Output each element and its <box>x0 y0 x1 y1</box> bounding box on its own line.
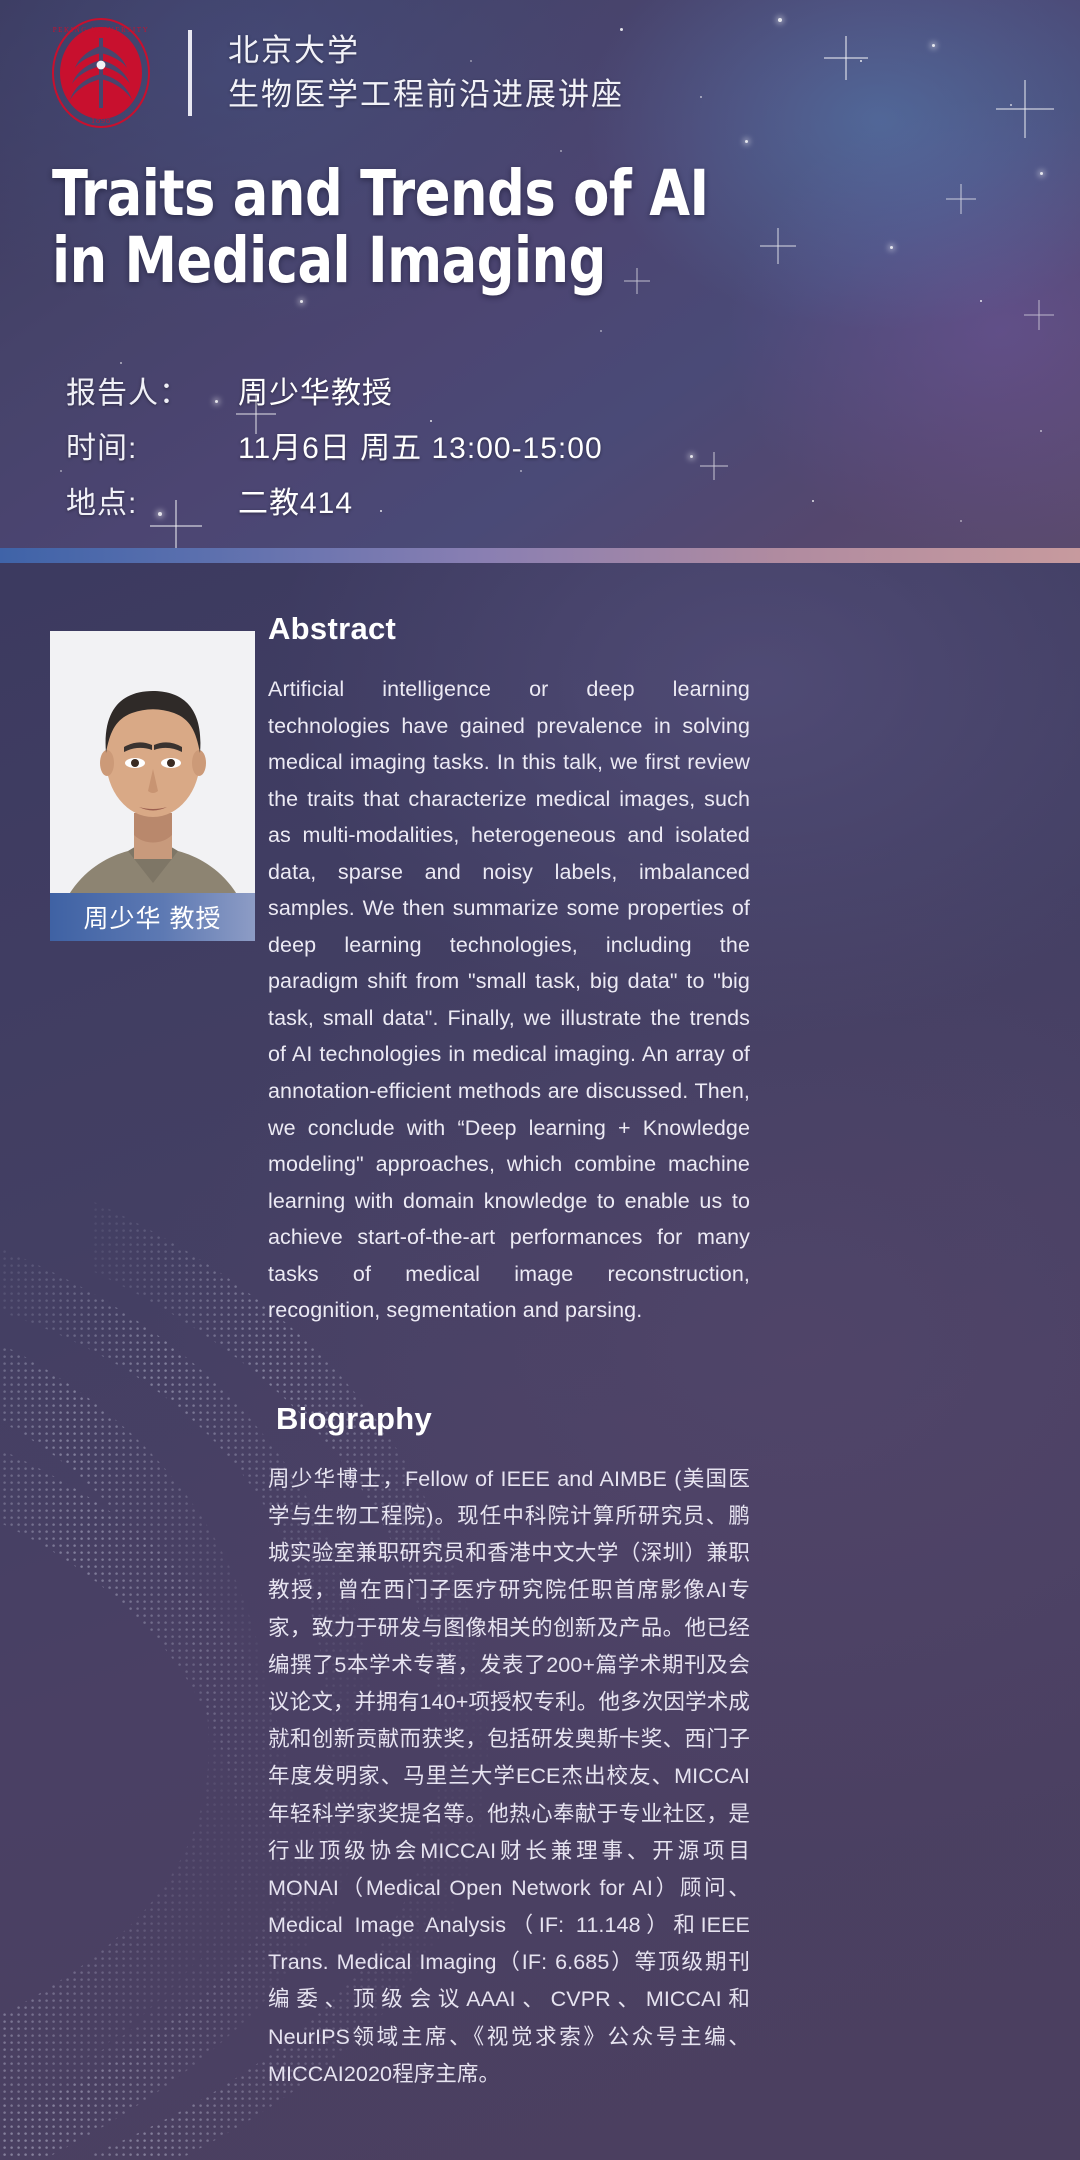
poster-header: PEKING UNIVERSITY 1898 北京大学 生物医学工程前沿进展讲座… <box>0 0 1080 548</box>
event-meta: 报告人： 周少华教授 时间: 11月6日 周五 13:00-15:00 地点: … <box>66 368 603 533</box>
poster-root: PEKING UNIVERSITY 1898 北京大学 生物医学工程前沿进展讲座… <box>0 0 1080 2160</box>
page-title: Traits and Trends of AI in Medical Imagi… <box>52 160 1012 295</box>
brand-divider <box>188 30 192 116</box>
meta-row-venue: 地点: 二教414 <box>66 478 603 522</box>
venue-value: 二教414 <box>238 478 353 522</box>
svg-text:1898: 1898 <box>91 116 111 125</box>
speaker-label: 报告人： <box>66 368 238 412</box>
brand-row: PEKING UNIVERSITY 1898 北京大学 生物医学工程前沿进展讲座 <box>48 16 624 130</box>
venue-label: 地点: <box>66 478 238 522</box>
organization-lines: 北京大学 生物医学工程前沿进展讲座 <box>228 33 624 113</box>
biography-heading: Biography <box>276 1401 750 1437</box>
meta-row-time: 时间: 11月6日 周五 13:00-15:00 <box>66 423 603 467</box>
svg-text:PEKING UNIVERSITY: PEKING UNIVERSITY <box>53 26 150 34</box>
abstract-body: Artificial intelligence or deep learning… <box>268 671 750 1329</box>
org-line-university: 北京大学 <box>228 33 624 69</box>
peking-university-seal-icon: PEKING UNIVERSITY 1898 <box>48 16 154 130</box>
gradient-divider-strip <box>0 548 1080 563</box>
abstract-heading: Abstract <box>268 611 750 647</box>
org-line-series: 生物医学工程前沿进展讲座 <box>228 77 624 113</box>
time-value: 11月6日 周五 13:00-15:00 <box>238 423 603 467</box>
time-label: 时间: <box>66 423 238 467</box>
meta-row-speaker: 报告人： 周少华教授 <box>66 368 603 412</box>
title-line-1: Traits and Trends of AI <box>52 160 945 227</box>
biography-section: Biography 周少华博士，Fellow of IEEE and AIMBE… <box>268 1401 750 2093</box>
content-column: Abstract Artificial intelligence or deep… <box>268 611 750 2093</box>
poster-body: 周少华 教授 Abstract Artificial intelligence … <box>0 563 1080 2160</box>
speaker-value: 周少华教授 <box>238 368 393 412</box>
biography-body: 周少华博士，Fellow of IEEE and AIMBE (美国医学与生物工… <box>268 1461 750 2093</box>
speaker-photo-caption: 周少华 教授 <box>50 893 255 941</box>
title-line-2: in Medical Imaging <box>52 227 945 294</box>
